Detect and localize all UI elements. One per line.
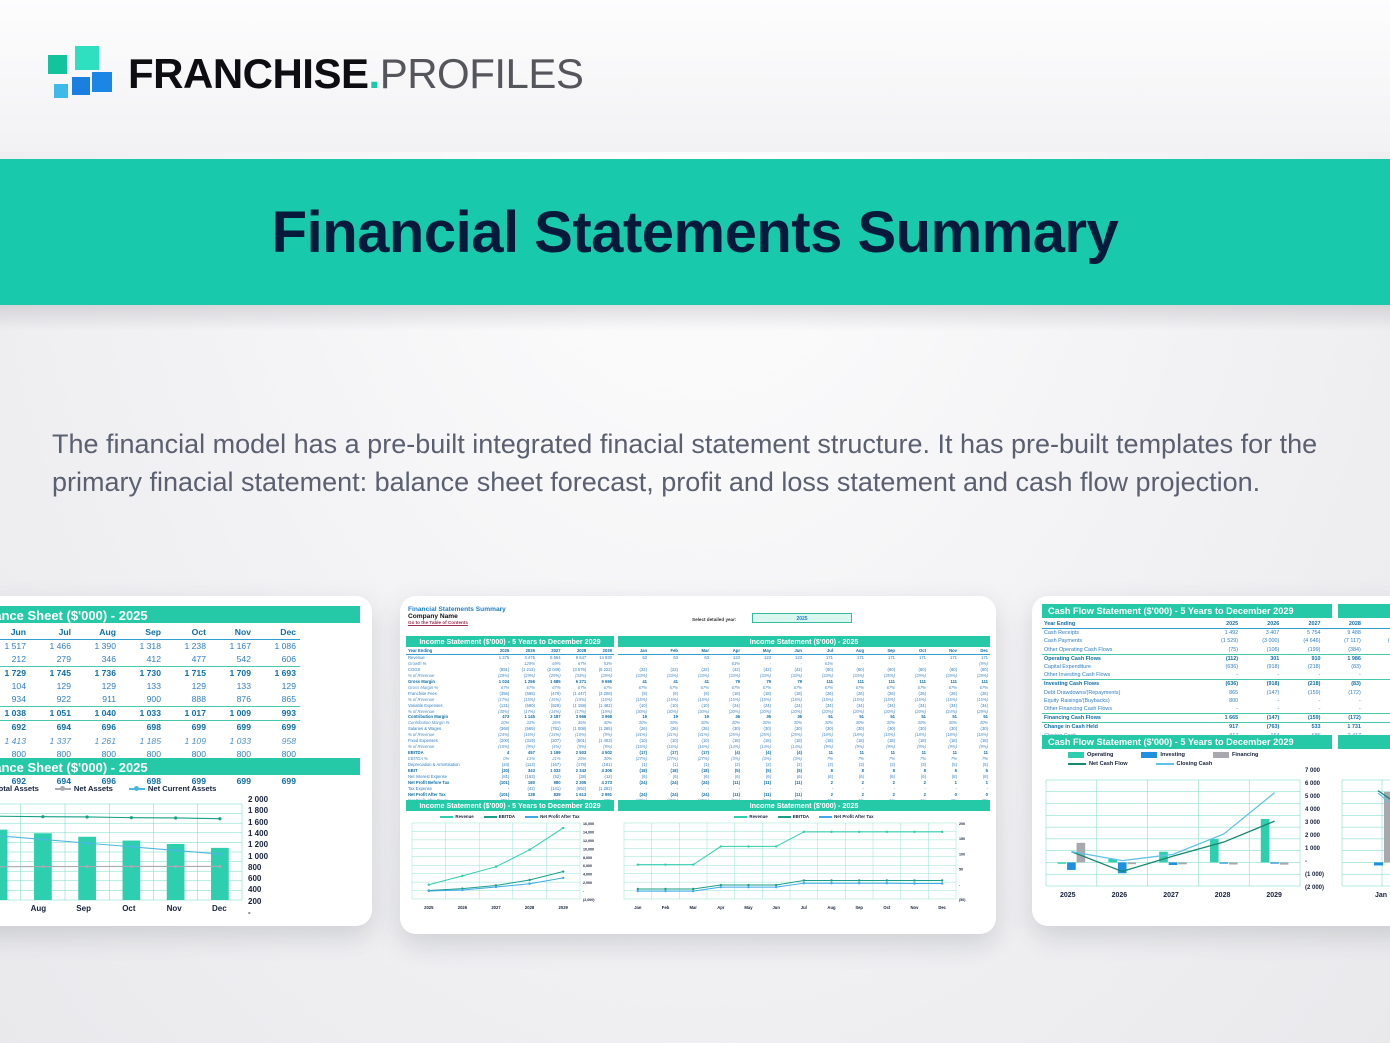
banner-shadow — [0, 305, 1390, 331]
cash-flow-x-axis-monthly: Jan — [1338, 892, 1390, 899]
select-year-label: Select detailed year: — [692, 617, 736, 622]
table-cell: 1 318 — [120, 640, 165, 654]
table-cell: (147) — [1240, 689, 1281, 697]
table-cell: 993 — [255, 707, 300, 721]
table-cell: (106) — [1240, 646, 1281, 655]
legend-label: Closing Cash — [1177, 761, 1213, 767]
svg-text:Sep: Sep — [855, 905, 863, 910]
svg-text:Nov: Nov — [911, 905, 920, 910]
y-tick: 1 600 — [248, 818, 268, 827]
table-cell: 900 — [120, 693, 165, 707]
legend-label: Investing — [1160, 752, 1185, 758]
table-cell: - — [1322, 705, 1362, 714]
table-cell: (199) — [1281, 646, 1322, 655]
column-header: Jun — [0, 626, 30, 640]
svg-text:Jul: Jul — [801, 905, 807, 910]
table-cell: 129 — [255, 680, 300, 693]
y-tick: 4 000 — [1305, 807, 1320, 813]
table-cell: - — [1240, 697, 1281, 705]
table-cell: 865 — [255, 693, 300, 707]
row-label: Other Financing Cash Flows — [1042, 705, 1199, 714]
table-cell: 876 — [210, 693, 255, 707]
table-cell: - — [1281, 697, 1322, 705]
table-row: Capital Expenditure(636)(918)(218)(83)-(… — [1042, 663, 1390, 671]
svg-text:50: 50 — [959, 868, 963, 872]
brand-wordmark: FRANCHISE.PROFILES — [128, 53, 583, 95]
row-label: Operating Cash Flows — [1042, 654, 1199, 663]
svg-text:-: - — [583, 890, 585, 894]
x-tick: 2029 — [1248, 892, 1300, 899]
table-cell: 1 261 — [75, 735, 120, 748]
svg-text:Apr: Apr — [717, 905, 725, 910]
company-name: Company Name — [408, 613, 506, 620]
cash-flow-table-title: Cash Flow Statement ($'000) - 5 Years to… — [1042, 604, 1332, 618]
intro-paragraph: The financial model has a pre-built inte… — [52, 425, 1337, 502]
row-label: Cash Receipts — [1042, 629, 1199, 638]
y-tick: 1 000 — [1305, 846, 1320, 852]
table-cell: (4 646) — [1281, 637, 1322, 645]
row-label: Other Operating Cash Flows — [1042, 646, 1199, 655]
row-label: Other Investing Cash Flows — [1042, 671, 1199, 680]
svg-text:150: 150 — [959, 837, 965, 841]
table-cell: 911 — [75, 693, 120, 707]
table-cell: (218) — [1281, 680, 1322, 689]
legend-label: Net Cash Flow — [1089, 761, 1128, 767]
balance-sheet-card: Balance Sheet ($'000) - 2025 MayJunJulAu… — [0, 596, 372, 926]
y-tick: 1 400 — [248, 829, 268, 838]
select-year-input[interactable]: 2025 — [752, 613, 852, 623]
x-tick: 2026 — [1094, 892, 1146, 899]
table-cell: 3 694 — [1363, 654, 1390, 663]
svg-text:2026: 2026 — [458, 905, 468, 910]
table-cell: - — [1363, 697, 1390, 705]
table-cell: (918) — [1240, 680, 1281, 689]
table-cell: - — [1199, 671, 1240, 680]
row-label: Debt Drawdowns/(Repayments) — [1042, 689, 1199, 697]
table-row: Financing Cash Flows1 665(147)(159)(172)… — [1042, 714, 1390, 723]
table-cell: (1 529) — [1199, 637, 1240, 645]
legend-item: Investing — [1141, 752, 1185, 758]
legend-item: Financing — [1213, 752, 1258, 758]
logo-squares-icon — [48, 46, 104, 102]
table-row: 703692694696698699699699 — [0, 721, 300, 735]
table-row: Other Operating Cash Flows(75)(106)(199)… — [1042, 646, 1390, 655]
income-5yr-chart: RevenueEBITDANet Profit After Tax 16,000… — [406, 812, 614, 922]
x-tick: Aug — [16, 904, 61, 918]
table-cell: (186) — [1363, 689, 1390, 697]
y-tick: 800 — [248, 863, 261, 872]
table-cell: 2029 — [1363, 620, 1390, 629]
table-cell: 1 009 — [210, 707, 255, 721]
table-row: Equity Raisings/(Buybacks)800----800 — [1042, 697, 1390, 705]
table-cell: 1 038 — [0, 707, 30, 721]
table-cell: 1 337 — [30, 735, 75, 748]
balance-sheet-x-axis: MayJunJulAugSepOctNovDec — [0, 904, 242, 918]
table-cell: 694 — [30, 721, 75, 735]
x-tick: Sep — [61, 904, 106, 918]
table-cell: 699 — [255, 721, 300, 735]
table-cell: 1 709 — [210, 667, 255, 681]
table-cell: - — [1363, 671, 1390, 680]
table-cell: 922 — [30, 693, 75, 707]
table-cell: 2028 — [1322, 620, 1362, 629]
table-cell: - — [1363, 663, 1390, 671]
cash-flow-card: Cash Flow Statement ($'000) - 5 Years to… — [1032, 596, 1390, 926]
table-cell: 1 665 — [1199, 714, 1240, 723]
svg-text:(50): (50) — [959, 898, 966, 902]
table-cell: - — [1363, 680, 1390, 689]
table-row: Change in Cash Held917(763)5331 7313 508… — [1042, 723, 1390, 732]
svg-text:Aug: Aug — [827, 905, 836, 910]
table-row: Operating Cash Flows(112)3019101 9863 69… — [1042, 654, 1390, 663]
svg-text:100: 100 — [959, 852, 965, 856]
table-cell: 212 — [0, 653, 30, 667]
income-5yr-chart-title: Income Statement ($'000) - 5 Years to De… — [406, 800, 614, 811]
table-cell: 606 — [255, 653, 300, 667]
table-cell: - — [1363, 705, 1390, 714]
table-cell: (83) — [1322, 663, 1362, 671]
table-cell: 279 — [30, 653, 75, 667]
svg-text:2025: 2025 — [424, 905, 434, 910]
svg-text:-: - — [959, 883, 961, 887]
y-tick: - — [1305, 859, 1307, 865]
column-header: Aug — [75, 626, 120, 640]
svg-text:2027: 2027 — [491, 905, 501, 910]
svg-text:8,000: 8,000 — [583, 856, 592, 860]
table-cell: 133 — [210, 680, 255, 693]
x-tick: 2025 — [1042, 892, 1094, 899]
legend-item: Net Cash Flow — [1068, 761, 1128, 767]
legend-row: Net Cash FlowClosing Cash — [1068, 761, 1338, 767]
table-cell: (680) — [1363, 646, 1390, 655]
svg-text:2,000: 2,000 — [583, 881, 592, 885]
row-label: Cash Payments — [1042, 637, 1199, 645]
cash-flow-x-axis: 20252026202720282029 — [1042, 892, 1300, 899]
svg-text:12,000: 12,000 — [583, 839, 594, 843]
balance-sheet-table-title: Balance Sheet ($'000) - 2025 — [0, 606, 360, 623]
table-cell: 800 — [1199, 697, 1240, 705]
table-cell: 1 492 — [1199, 629, 1240, 638]
table-cell: 1 040 — [75, 707, 120, 721]
y-tick: 200 — [248, 897, 261, 906]
income-2025-chart-title: Income Statement ($'000) - 2025 — [618, 800, 990, 811]
table-cell: 129 — [165, 680, 210, 693]
legend-row: OperatingInvestingFinancing — [1068, 752, 1338, 758]
x-tick: Nov — [152, 904, 197, 918]
brand-name-light: PROFILES — [380, 50, 584, 97]
table-cell: 699 — [165, 721, 210, 735]
table-cell: 1 051 — [30, 707, 75, 721]
table-cell: 1 109 — [165, 735, 210, 748]
table-row: 945934922911900888876865 — [0, 693, 300, 707]
table-row: 1 4711 4131 3371 2611 1851 1091 033958 — [0, 735, 300, 748]
svg-text:Oct: Oct — [883, 905, 891, 910]
table-cell: (75) — [1199, 646, 1240, 655]
table-cell: 865 — [1199, 689, 1240, 697]
table-cell: 1 730 — [120, 667, 165, 681]
x-tick: Oct — [106, 904, 151, 918]
svg-text:Dec: Dec — [938, 905, 946, 910]
y-tick: 1 200 — [248, 840, 268, 849]
column-header: Nov — [210, 626, 255, 640]
legend-label: Net Assets — [74, 784, 113, 793]
table-cell: 104 — [0, 680, 30, 693]
income-5yr-table-title: Income Statement ($'000) - 5 Years to De… — [406, 636, 614, 647]
table-cell: (7 117) — [1322, 637, 1362, 645]
svg-text:16,000: 16,000 — [583, 822, 594, 826]
table-row: 101104129129133129133129 — [0, 680, 300, 693]
table-cell: 477 — [165, 653, 210, 667]
table-cell: 1 729 — [0, 667, 30, 681]
cash-flow-chart-legend: OperatingInvestingFinancingNet Cash Flow… — [1068, 752, 1338, 770]
table-cell: - — [1281, 705, 1322, 714]
table-cell: 958 — [255, 735, 300, 748]
table-cell: 692 — [0, 721, 30, 735]
svg-text:May: May — [744, 905, 753, 910]
legend-label: Financing — [1232, 752, 1258, 758]
y-tick: 5 000 — [1305, 794, 1320, 800]
table-cell: 346 — [75, 653, 120, 667]
income-2025-plot: 20015010050-(50)JanFebMarAprMayJunJulAug… — [618, 819, 990, 914]
income-2025-chart-legend: RevenueEBITDANet Profit After Tax — [618, 812, 990, 819]
table-row: Debt Drawdowns/(Repayments)865(147)(159)… — [1042, 689, 1390, 697]
table-cell: (3 000) — [1240, 637, 1281, 645]
y-tick: 7 000 — [1305, 768, 1320, 774]
table-cell: - — [1281, 671, 1322, 680]
column-header: Dec — [255, 626, 300, 640]
table-cell: 1 185 — [120, 735, 165, 748]
summary-heading-block: Financial Statements Summary Company Nam… — [408, 606, 506, 625]
table-row: Cash Receipts1 4923 4075 7549 48814 7203… — [1042, 629, 1390, 638]
legend-item: Net Current Assets — [129, 784, 217, 793]
table-cell: - — [1322, 671, 1362, 680]
table-cell: (172) — [1322, 714, 1362, 723]
cash-flow-table-title-overflow — [1338, 604, 1390, 618]
table-cell: 696 — [75, 721, 120, 735]
table-cell: 542 — [210, 653, 255, 667]
cash-flow-chart — [1042, 774, 1332, 894]
table-cell: (112) — [1199, 654, 1240, 663]
table-row: Investing Cash Flows(636)(918)(218)(83)-… — [1042, 680, 1390, 689]
cash-flow-y-axis: 7 0006 0005 0004 0003 0002 0001 000-(1 0… — [1300, 768, 1350, 896]
table-cell: 934 — [0, 693, 30, 707]
table-cell: 1 017 — [165, 707, 210, 721]
brand-logo: FRANCHISE.PROFILES — [48, 46, 583, 102]
balance-sheet-chart-title: Balance Sheet ($'000) - 2025 — [0, 758, 360, 775]
income-2025-chart: RevenueEBITDANet Profit After Tax 200150… — [618, 812, 990, 922]
income-2025-table: JanFebMarAprMayJunJulAugSepOctNovDec6363… — [618, 648, 990, 804]
svg-text:4,000: 4,000 — [583, 873, 592, 877]
table-cell: (159) — [1281, 689, 1322, 697]
brand-name-bold: FRANCHISE — [128, 50, 369, 97]
table-cell: 129 — [30, 680, 75, 693]
y-tick: (2 000) — [1305, 885, 1324, 891]
table-cell: 3 508 — [1363, 723, 1390, 732]
income-5yr-plot: 16,00014,00012,00010,0008,0006,0004,0002… — [406, 819, 614, 914]
svg-text:200: 200 — [959, 822, 965, 826]
y-tick: 2 000 — [248, 795, 268, 804]
table-cell: (636) — [1199, 680, 1240, 689]
financial-summary-card: Financial Statements Summary Company Nam… — [400, 596, 996, 934]
y-tick: 2 000 — [1305, 833, 1320, 839]
table-header-row: MayJunJulAugSepOctNovDec — [0, 626, 300, 640]
svg-text:Jan: Jan — [634, 905, 642, 910]
cash-flow-chart-title-overflow — [1338, 735, 1390, 749]
legend-item: Total Assets — [0, 784, 39, 793]
svg-text:2029: 2029 — [559, 905, 569, 910]
table-cell: (763) — [1240, 723, 1281, 732]
brand-dot: . — [369, 50, 380, 97]
table-cell: - — [1240, 671, 1281, 680]
table-row: 1 7491 7291 7451 7361 7301 7151 7091 693 — [0, 667, 300, 681]
table-cell: - — [1199, 705, 1240, 714]
table-cell: 9 488 — [1322, 629, 1362, 638]
y-tick: 6 000 — [1305, 781, 1320, 787]
table-row: 1 0451 0381 0511 0401 0331 0171 009993 — [0, 707, 300, 721]
svg-text:2028: 2028 — [525, 905, 535, 910]
balance-sheet-chart-legend: Current LiabilitiesTotal AssetsNet Asset… — [0, 784, 346, 793]
income-2025-table-title: Income Statement ($'000) - 2025 — [618, 636, 990, 647]
table-cell: (172) — [1322, 689, 1362, 697]
table-cell: - — [1240, 705, 1281, 714]
toc-link[interactable]: Go to the Table of Contents — [408, 620, 506, 625]
y-tick: 1 800 — [248, 806, 268, 815]
cash-flow-chart-title: Cash Flow Statement ($'000) - 5 Years to… — [1042, 735, 1332, 749]
table-cell: (83) — [1322, 680, 1362, 689]
table-cell: 5 754 — [1281, 629, 1322, 638]
table-cell: 2027 — [1281, 620, 1322, 629]
row-label: Equity Raisings/(Buybacks) — [1042, 697, 1199, 705]
table-cell: 917 — [1199, 723, 1240, 732]
table-row: 1 5711 5171 4661 3901 3181 2381 1671 086 — [0, 640, 300, 654]
x-tick: Dec — [197, 904, 242, 918]
page-title: Financial Statements Summary — [0, 199, 1390, 266]
svg-text:Mar: Mar — [689, 905, 697, 910]
table-cell: (159) — [1281, 714, 1322, 723]
table-cell: - — [1322, 697, 1362, 705]
column-header: Sep — [120, 626, 165, 640]
table-cell: 1 736 — [75, 667, 120, 681]
balance-sheet-y-axis: 2 0001 8001 6001 4001 2001 0008006004002… — [242, 795, 302, 913]
table-cell: 1 745 — [30, 667, 75, 681]
x-tick: 2027 — [1145, 892, 1197, 899]
table-cell: 910 — [1281, 654, 1322, 663]
y-tick: (1 000) — [1305, 872, 1324, 878]
y-tick: 3 000 — [1305, 820, 1320, 826]
table-row: Cash Payments(1 529)(3 000)(4 646)(7 117… — [1042, 637, 1390, 645]
table-cell: (384) — [1322, 646, 1362, 655]
svg-text:6,000: 6,000 — [583, 864, 592, 868]
table-cell: 888 — [165, 693, 210, 707]
table-row: Year Ending20252026202720282029Jan — [1042, 620, 1390, 629]
table-cell: 1 033 — [120, 707, 165, 721]
table-cell: (186) — [1363, 714, 1390, 723]
table-cell: 1 167 — [210, 640, 255, 654]
row-label: Capital Expenditure — [1042, 663, 1199, 671]
table-cell: (10 345) — [1363, 637, 1390, 645]
row-label: Change in Cash Held — [1042, 723, 1199, 732]
title-banner: Financial Statements Summary — [0, 159, 1390, 305]
table-cell: 1 986 — [1322, 654, 1362, 663]
y-tick: 600 — [248, 874, 261, 883]
table-cell: 1 033 — [210, 735, 255, 748]
svg-text:(2,000): (2,000) — [583, 898, 595, 902]
legend-label: Total Assets — [0, 784, 39, 793]
legend-label: Operating — [1087, 752, 1113, 758]
page-header: FRANCHISE.PROFILES — [0, 0, 1390, 152]
table-cell: (918) — [1240, 663, 1281, 671]
table-cell: 1 466 — [30, 640, 75, 654]
column-header: Jul — [30, 626, 75, 640]
svg-text:Feb: Feb — [662, 905, 670, 910]
table-cell: 1 731 — [1322, 723, 1362, 732]
svg-text:10,000: 10,000 — [583, 847, 594, 851]
legend-item: Operating — [1068, 752, 1113, 758]
legend-label: Net Current Assets — [148, 784, 217, 793]
x-tick: 2028 — [1197, 892, 1249, 899]
y-tick: - — [248, 908, 251, 917]
x-tick: Jul — [0, 904, 16, 918]
table-cell: 699 — [210, 721, 255, 735]
table-cell: 133 — [120, 680, 165, 693]
legend-item: Closing Cash — [1156, 761, 1213, 767]
income-5yr-chart-legend: RevenueEBITDANet Profit After Tax — [406, 812, 614, 819]
row-label: Investing Cash Flows — [1042, 680, 1199, 689]
svg-text:Jun: Jun — [772, 905, 780, 910]
table-cell: 1 238 — [165, 640, 210, 654]
summary-heading: Financial Statements Summary — [408, 606, 506, 613]
table-cell: 1 390 — [75, 640, 120, 654]
table-cell: 2026 — [1240, 620, 1281, 629]
table-cell: 533 — [1281, 723, 1322, 732]
table-cell: 1 693 — [255, 667, 300, 681]
column-header: Oct — [165, 626, 210, 640]
table-cell: 1 413 — [0, 735, 30, 748]
table-cell: 412 — [120, 653, 165, 667]
table-cell: 2025 — [1199, 620, 1240, 629]
table-cell: 301 — [1240, 654, 1281, 663]
table-row: 178212279346412477542606 — [0, 653, 300, 667]
table-row: Other Financing Cash Flows------ — [1042, 705, 1390, 714]
table-cell: (147) — [1240, 714, 1281, 723]
income-5yr-table: Year Ending20252026202720282029Revenue1 … — [406, 648, 614, 804]
table-cell: (636) — [1199, 663, 1240, 671]
table-row: Other Investing Cash Flows------ — [1042, 671, 1390, 680]
table-cell: 1 517 — [0, 640, 30, 654]
row-label: Year Ending — [1042, 620, 1199, 629]
table-cell: 698 — [120, 721, 165, 735]
table-cell: 129 — [75, 680, 120, 693]
y-tick: 400 — [248, 885, 261, 894]
y-tick: 1 000 — [248, 852, 268, 861]
legend-item: Net Assets — [55, 784, 113, 793]
table-cell: 14 720 — [1363, 629, 1390, 638]
table-cell: 3 407 — [1240, 629, 1281, 638]
table-cell: (218) — [1281, 663, 1322, 671]
table-cell: 1 086 — [255, 640, 300, 654]
table-cell: 1 715 — [165, 667, 210, 681]
svg-text:14,000: 14,000 — [583, 830, 594, 834]
row-label: Financing Cash Flows — [1042, 714, 1199, 723]
cash-flow-table: Year Ending20252026202720282029JanCash R… — [1042, 620, 1390, 740]
